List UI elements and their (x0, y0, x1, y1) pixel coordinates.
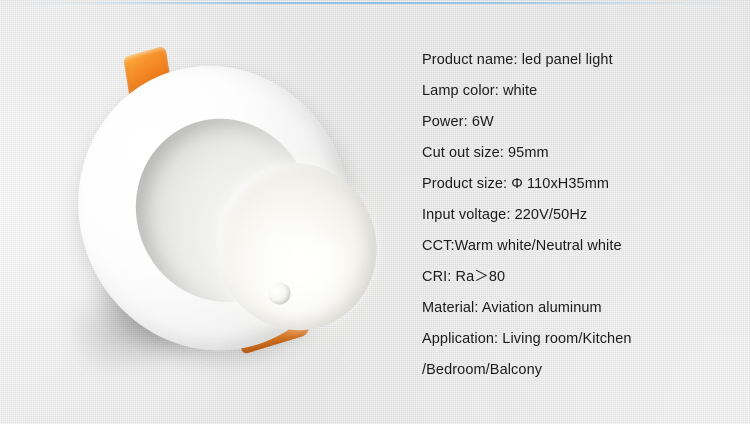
spec-line-cri: CRI: Ra＞80 (422, 262, 732, 293)
bezel-ring (40, 29, 388, 387)
specification-list: Product name: led panel light Lamp color… (422, 45, 732, 386)
spec-line-power: Power: 6W (422, 107, 732, 138)
spec-line-cct: CCT:Warm white/Neutral white (422, 231, 732, 262)
spec-line-product-size: Product size: Φ 110xH35mm (422, 169, 732, 200)
spec-line-application-cont: /Bedroom/Balcony (422, 355, 732, 386)
diffuser-lens (193, 141, 399, 352)
spec-line-material: Material: Aviation aluminum (422, 293, 732, 324)
spec-line-application: Application: Living room/Kitchen (422, 324, 732, 355)
spec-line-product-name: Product name: led panel light (422, 45, 732, 76)
product-image (58, 28, 378, 392)
spec-line-input-voltage: Input voltage: 220V/50Hz (422, 200, 732, 231)
product-spec-banner: Product name: led panel light Lamp color… (0, 0, 750, 424)
top-accent-line (0, 2, 750, 4)
spec-line-cut-out-size: Cut out size: 95mm (422, 138, 732, 169)
spec-line-lamp-color: Lamp color: white (422, 76, 732, 107)
led-downlight-graphic (7, 0, 428, 424)
reflector-cone (111, 95, 335, 326)
